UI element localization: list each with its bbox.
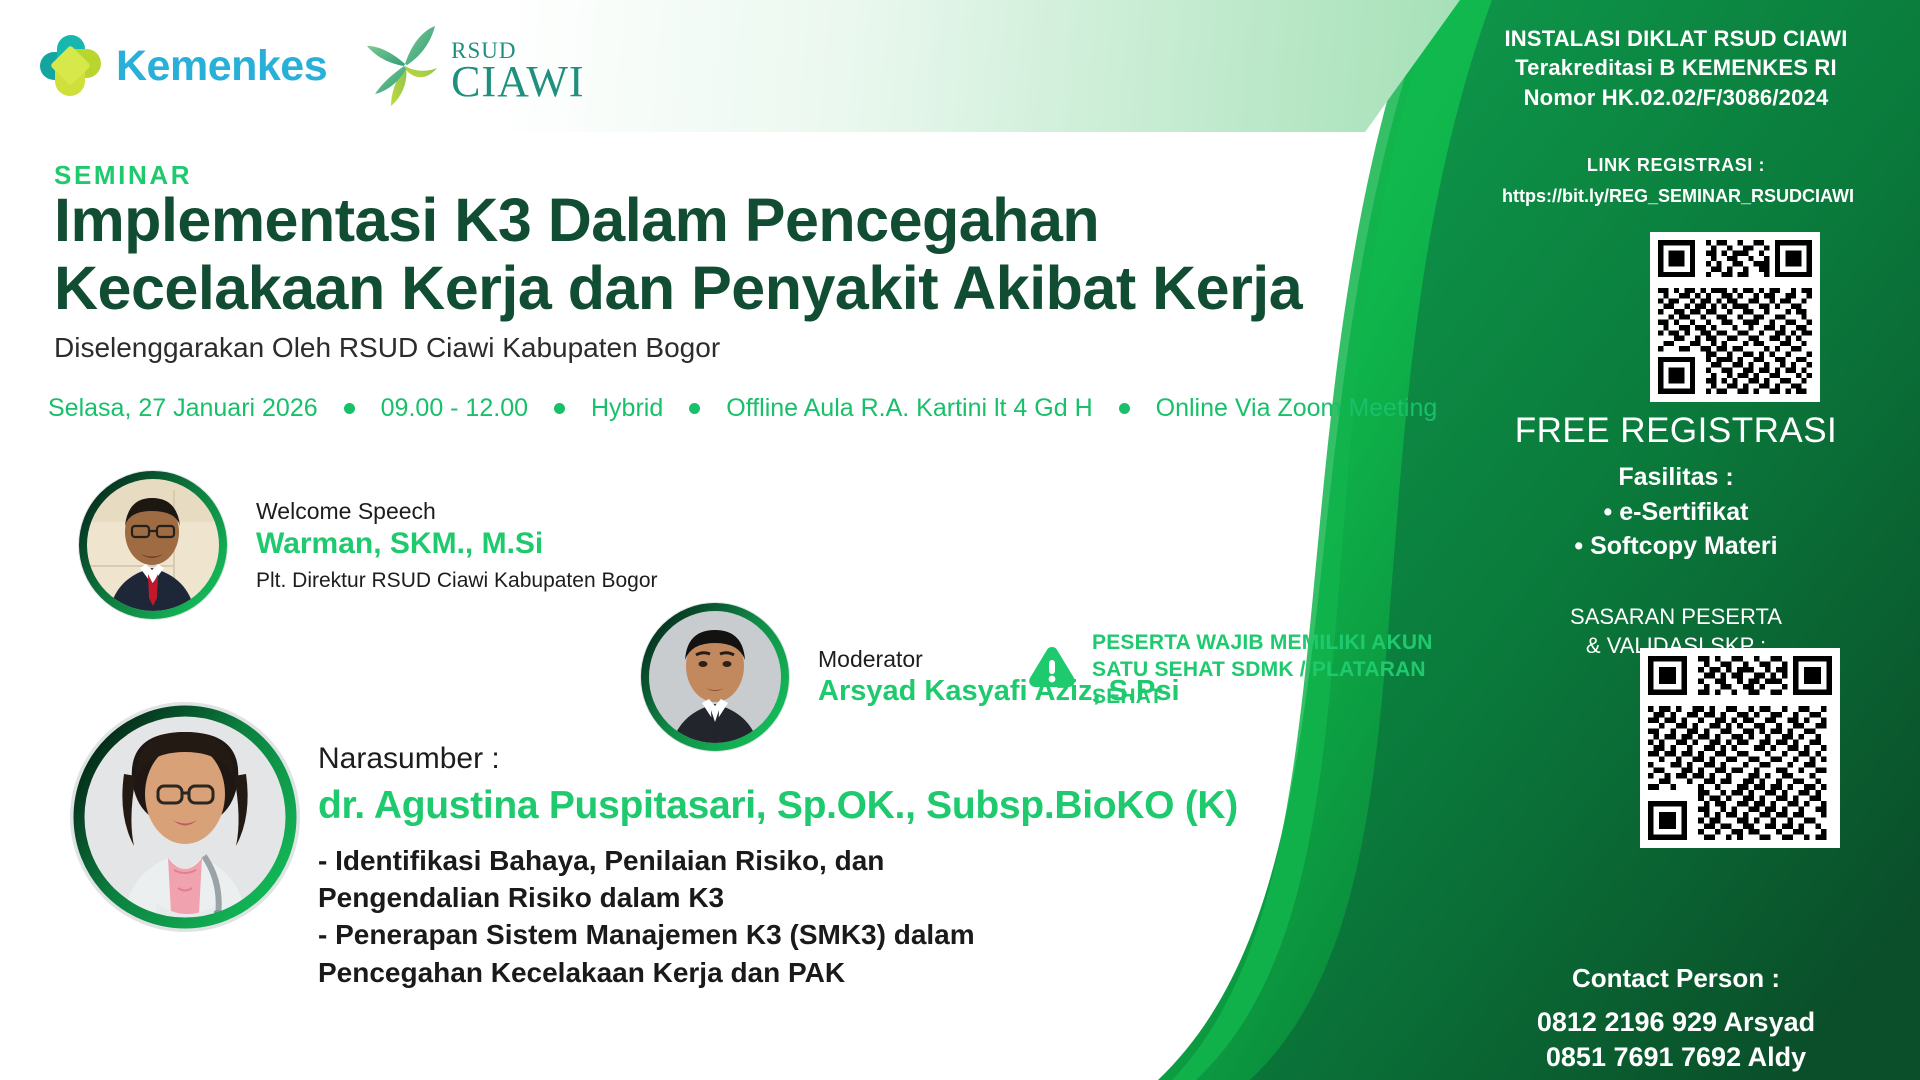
meta-time: 09.00 - 12.00 — [381, 394, 528, 423]
speaker-name: dr. Agustina Puspitasari, Sp.OK., Subsp.… — [318, 784, 1358, 828]
separator-dot-icon — [344, 403, 355, 414]
main-content: SEMINAR Implementasi K3 Dalam Pencegahan… — [0, 132, 1460, 1080]
meta-venue: Offline Aula R.A. Kartini lt 4 Gd H — [726, 394, 1092, 423]
speaker-photo-block — [70, 702, 300, 932]
separator-dot-icon — [554, 403, 565, 414]
kemenkes-wordmark: Kemenkes — [116, 42, 327, 91]
welcome-speech-block: Welcome Speech Warman, SKM., M.Si Plt. D… — [78, 470, 658, 620]
moderator-name: Arsyad Kasyafi Aziz, S.Psi — [818, 675, 1180, 708]
organizer-subtitle: Diselenggarakan Oleh RSUD Ciawi Kabupate… — [54, 332, 720, 364]
speaker-role-label: Narasumber : — [318, 742, 1358, 776]
kemenkes-mark-icon — [40, 35, 102, 97]
welcome-speaker-text: Welcome Speech Warman, SKM., M.Si Plt. D… — [256, 498, 658, 593]
meta-format: Hybrid — [591, 394, 663, 423]
moderator-role-label: Moderator — [818, 646, 1180, 673]
welcome-speaker-title: Plt. Direktur RSUD Ciawi Kabupaten Bogor — [256, 569, 658, 593]
meta-online: Online Via Zoom Meeting — [1156, 394, 1438, 423]
title-line-1: Implementasi K3 Dalam Pencegahan — [54, 186, 1099, 254]
welcome-role-label: Welcome Speech — [256, 498, 658, 525]
page-title: Implementasi K3 Dalam Pencegahan Kecelak… — [54, 186, 1384, 323]
registration-link-label: LINK REGISTRASI : — [1466, 155, 1886, 176]
moderator-block: Moderator Arsyad Kasyafi Aziz, S.Psi — [640, 602, 1180, 752]
topic-item: - Penerapan Sistem Manajemen K3 (SMK3) d… — [318, 916, 1358, 990]
speaker-topics: - Identifikasi Bahaya, Penilaian Risiko,… — [318, 842, 1358, 991]
seminar-poster: Kemenkes — [0, 0, 1920, 1080]
topic-item: - Identifikasi Bahaya, Penilaian Risiko,… — [318, 842, 1358, 916]
target-participants-qr-code[interactable] — [1640, 648, 1840, 848]
separator-dot-icon — [689, 403, 700, 414]
registration-qr-code[interactable] — [1650, 232, 1820, 402]
avatar-welcome-speaker — [78, 470, 228, 620]
kemenkes-logo: Kemenkes — [40, 35, 327, 97]
header-band: Kemenkes — [0, 0, 1460, 132]
free-registration-label: FREE REGISTRASI — [1466, 411, 1886, 451]
avatar-main-speaker — [70, 702, 300, 932]
title-line-2: Kecelakaan Kerja dan Penyakit Akibat Ker… — [54, 254, 1384, 322]
contact-numbers: 0812 2196 929 Arsyad 0851 7691 7692 Aldy — [1466, 1005, 1886, 1075]
contact-person-label: Contact Person : — [1466, 963, 1886, 994]
meta-date: Selasa, 27 Januari 2026 — [48, 394, 318, 423]
facilities-list: Fasilitas : • e-Sertifikat • Softcopy Ma… — [1466, 460, 1886, 564]
rsud-ciawi-logo: RSUD CIAWI — [361, 24, 584, 108]
leaf-icon — [361, 24, 447, 108]
moderator-text: Moderator Arsyad Kasyafi Aziz, S.Psi — [818, 646, 1180, 708]
event-meta-row: Selasa, 27 Januari 2026 09.00 - 12.00 Hy… — [48, 394, 1388, 423]
avatar-moderator — [640, 602, 790, 752]
rsud-wordmark: RSUD CIAWI — [451, 40, 584, 108]
welcome-speaker-name: Warman, SKM., M.Si — [256, 527, 658, 561]
accreditation-text: INSTALASI DIKLAT RSUD CIAWI Terakreditas… — [1466, 24, 1886, 112]
separator-dot-icon — [1119, 403, 1130, 414]
registration-url[interactable]: https://bit.ly/REG_SEMINAR_RSUDCIAWI — [1458, 186, 1898, 207]
speaker-text-block: Narasumber : dr. Agustina Puspitasari, S… — [318, 742, 1358, 991]
